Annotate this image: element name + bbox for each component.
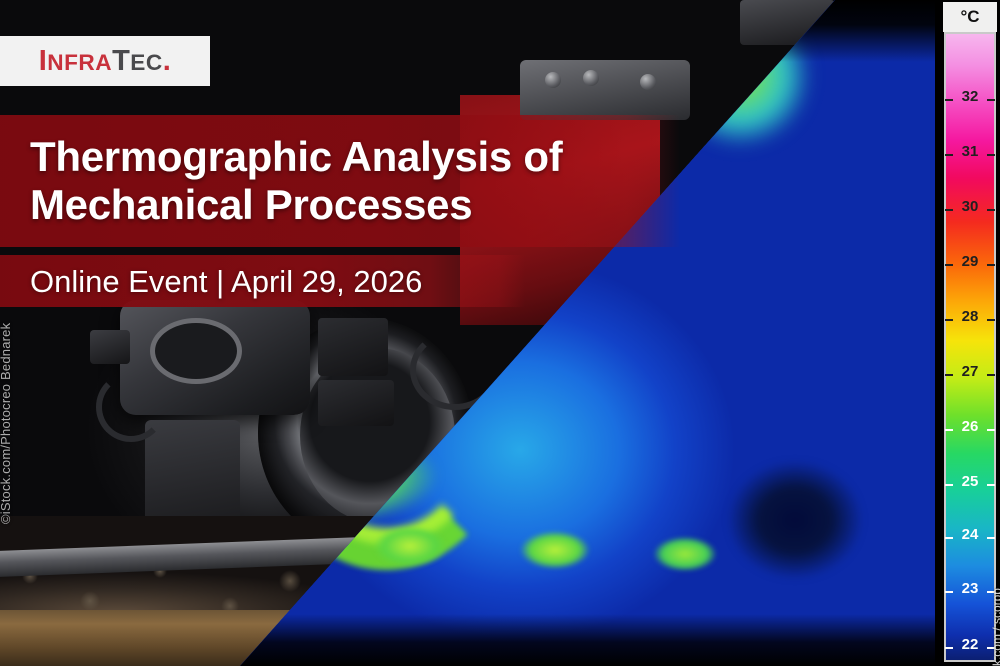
photo-part-upper-bracket — [520, 60, 690, 120]
logo-wordmark: INFRATEC. — [39, 47, 172, 76]
logo-text-infra-rest: NFRA — [47, 50, 112, 75]
photo-bolt — [583, 70, 599, 86]
logo-period: . — [163, 45, 172, 77]
photo-part-block-b — [318, 380, 394, 426]
photo-bolt — [640, 74, 656, 90]
scale-tick-label: 31 — [944, 144, 996, 159]
photo-part-block-c — [90, 330, 130, 364]
subtitle-banner: Online Event | April 29, 2026 — [0, 255, 525, 307]
scale-tick-label: 32 — [944, 89, 996, 104]
page-title-line-2: Mechanical Processes — [30, 181, 680, 229]
photo-cable — [96, 372, 166, 442]
page-title-line-1: Thermographic Analysis of — [30, 133, 680, 181]
photo-bolt — [545, 72, 561, 88]
photo-part-block-a — [318, 318, 388, 376]
thermal-cold-region — [700, 430, 890, 610]
scale-tick-label: 30 — [944, 199, 996, 214]
scale-tick-label: 25 — [944, 474, 996, 489]
logo-text-tec-rest: EC — [130, 50, 162, 75]
scale-credit-text: © iStock.com / scorpp — [990, 588, 1000, 666]
photo-axle-ring — [150, 318, 242, 384]
title-banner: Thermographic Analysis of Mechanical Pro… — [0, 115, 680, 247]
scale-tick-label: 23 — [944, 581, 996, 596]
infratec-logo[interactable]: INFRATEC. — [0, 36, 210, 86]
event-subtitle: Online Event | April 29, 2026 — [30, 266, 422, 297]
scale-tick-label: 26 — [944, 419, 996, 434]
scale-tick-label: 28 — [944, 309, 996, 324]
scale-tick-label: 27 — [944, 364, 996, 379]
scale-unit-label: °C — [943, 2, 997, 32]
scale-tick-label: 24 — [944, 527, 996, 542]
scale-tick-label: 29 — [944, 254, 996, 269]
scale-gradient-track — [944, 32, 996, 662]
scale-tick-label: 22 — [944, 637, 996, 652]
logo-text-tec-cap: T — [112, 45, 130, 77]
photo-credit-text: ©iStock.com/Photocreo Bednarek — [0, 323, 13, 524]
logo-text-infra-cap: I — [39, 45, 48, 77]
promo-banner: ©iStock.com/Photocreo Bednarek Thermogra… — [0, 0, 1000, 666]
temperature-scale-panel: °C 3231302928272625242322 © iStock.com /… — [935, 0, 1000, 666]
